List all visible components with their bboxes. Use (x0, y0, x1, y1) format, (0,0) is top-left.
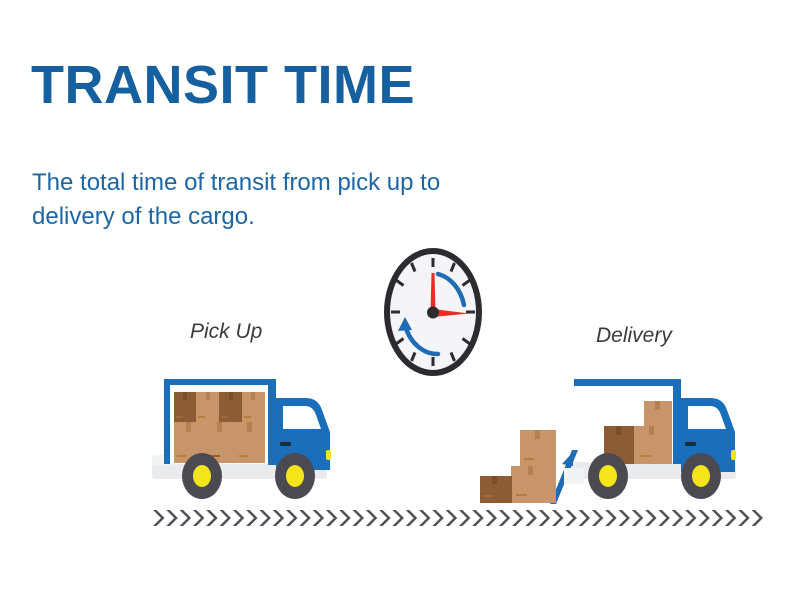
box-tape (528, 466, 533, 475)
clock-center-pin (427, 307, 439, 319)
box-marking (640, 455, 651, 457)
box-tape (492, 476, 497, 484)
box-marking (221, 416, 228, 418)
cardboard-box-icon (511, 466, 556, 503)
truck-mid-post (268, 379, 276, 465)
wheel-hub (692, 465, 710, 487)
truck-door-handle (685, 442, 696, 446)
box-tape (183, 392, 187, 400)
wheel-icon (588, 453, 628, 499)
box-marking (244, 416, 251, 418)
stage-label-delivery: Delivery (596, 324, 672, 348)
box-tape (217, 422, 222, 432)
truck-headlight (731, 450, 736, 460)
delivery-truck-icon (150, 362, 350, 512)
truck-roof-bar (574, 379, 680, 386)
box-marking (516, 494, 527, 496)
ground-chevron-strip (152, 507, 764, 529)
clock-icon (383, 247, 483, 377)
unloaded-cargo-group (478, 428, 588, 512)
ground-svg (152, 507, 764, 529)
box-tape (649, 426, 654, 435)
box-marking (176, 416, 183, 418)
truck-pickup-svg (150, 362, 350, 512)
box-tape (535, 430, 540, 439)
wheel-icon (275, 453, 315, 499)
cargo-boxes-bottom (174, 422, 265, 463)
chevron-right-icon (152, 507, 764, 529)
box-marking (239, 455, 248, 457)
box-marking (483, 495, 493, 497)
box-marking (198, 416, 205, 418)
wheel-icon (182, 453, 222, 499)
wheel-icon (681, 453, 721, 499)
page-subtitle: The total time of transit from pick up t… (32, 166, 472, 234)
truck-door-handle (280, 442, 291, 446)
wheel-hub (193, 465, 211, 487)
truck-roof (164, 379, 274, 385)
box-tape (655, 401, 660, 410)
box-tape (251, 392, 255, 400)
ground-cargo-svg (478, 428, 588, 512)
truck-rear-post (164, 379, 170, 464)
wheel-hub (599, 465, 617, 487)
page-title: TRANSIT TIME (31, 57, 415, 113)
box-tape (616, 426, 621, 435)
clock-svg (383, 247, 483, 377)
truck-mid-post (673, 379, 681, 464)
slide-canvas: TRANSIT TIME The total time of transit f… (0, 0, 800, 600)
box-marking (524, 458, 534, 460)
box-marking (177, 455, 186, 457)
truck-headlight (326, 450, 331, 460)
cargo-boxes-top (174, 392, 265, 422)
box-tape (206, 392, 210, 400)
stage-label-pickup: Pick Up (190, 320, 262, 344)
box-tape (186, 422, 191, 432)
wheel-hub (286, 465, 304, 487)
box-tape (247, 422, 252, 432)
box-tape (229, 392, 233, 400)
